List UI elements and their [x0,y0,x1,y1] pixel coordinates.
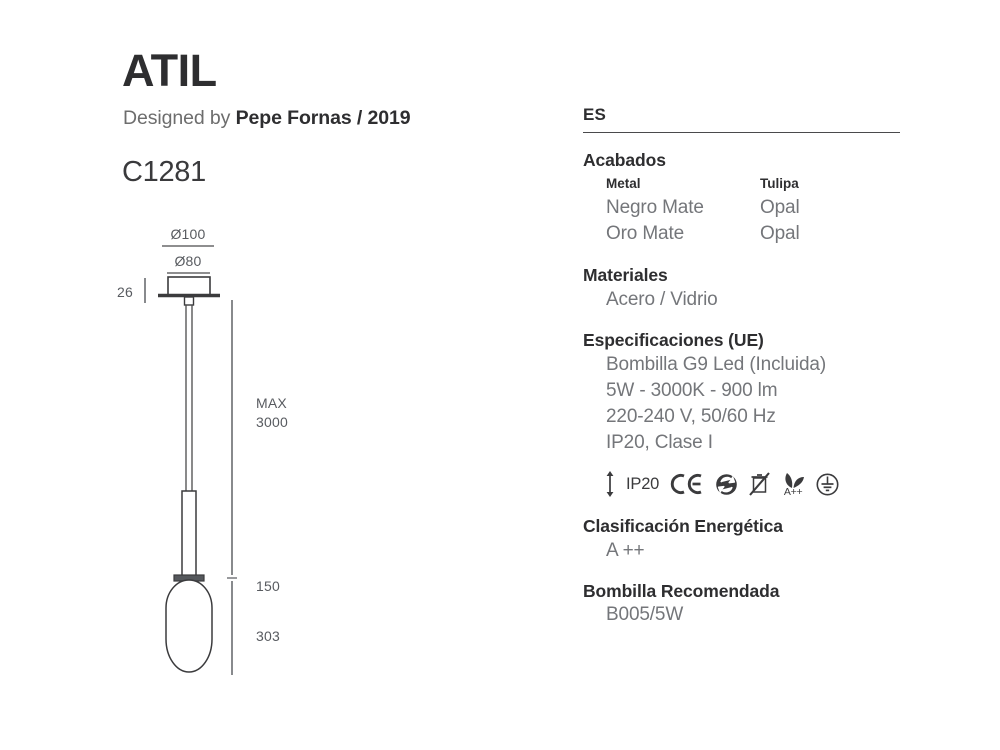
energy-badge-label: A++ [784,487,803,498]
materials-section: Materiales Acero / Vidrio [583,265,913,313]
specification-sheet: ES Acabados Metal Tulipa Negro Mate Opal… [583,105,913,629]
energy-leaf-icon: A++ [781,472,805,498]
finishes-col-tulipa-header: Tulipa [760,174,900,195]
materials-heading: Materiales [583,265,913,287]
glass-shade [166,580,212,672]
energy-class-value: A ++ [583,538,913,564]
finishes-header-row: Metal Tulipa [606,174,913,195]
finishes-table: Metal Tulipa Negro Mate Opal Oro Mate Op… [583,174,913,247]
stem-tube [182,491,196,577]
class-i-earth-icon [816,473,839,496]
specification-line: 5W - 3000K - 900 lm [583,378,913,404]
dimension-diameter-inner: Ø80 [174,253,201,269]
finishes-col-metal-header: Metal [606,174,760,195]
designer-credit: Designed by Pepe Fornas / 2019 [123,107,411,130]
specifications-section: Especificaciones (UE) Bombilla G9 Led (I… [583,330,913,501]
header-divider [583,132,900,133]
recommended-bulb-heading: Bombilla Recomendada [583,581,913,603]
energy-class-section: Clasificación Energética A ++ [583,516,913,564]
certification-icon-strip: IP20 [583,468,913,500]
recycling-icon [715,473,738,496]
energy-class-heading: Clasificación Energética [583,516,913,538]
dimension-canopy-height: 26 [117,284,133,300]
finish-metal-value: Oro Mate [606,221,760,247]
ip-rating-icon: IP20 [626,475,659,494]
canopy-connector [185,297,194,305]
table-row: Oro Mate Opal [606,221,913,247]
dimension-max-value: 3000 [256,414,288,430]
language-header: ES [583,105,913,125]
finish-tulipa-value: Opal [760,221,900,247]
recommended-bulb-value: B005/5W [583,602,913,628]
title-and-drawing-column: ATIL Designed by Pepe Fornas / 2019 C128… [0,0,560,750]
finish-tulipa-value: Opal [760,195,900,221]
designer-prefix: Designed by [123,107,236,129]
model-code: C1281 [122,156,206,189]
specification-line: Bombilla G9 Led (Incluida) [583,352,913,378]
canopy-body [168,277,210,295]
finishes-section: Acabados Metal Tulipa Negro Mate Opal Or… [583,150,913,247]
weee-crossed-bin-icon [749,472,770,497]
specification-line: 220-240 V, 50/60 Hz [583,404,913,430]
designer-name: Pepe Fornas / 2019 [236,107,411,129]
specification-line: IP20, Clase I [583,430,913,456]
table-row: Negro Mate Opal [606,195,913,221]
ce-mark-icon [670,472,704,496]
technical-drawing: Ø100 Ø80 26 [100,215,380,695]
specifications-heading: Especificaciones (UE) [583,330,913,352]
finishes-heading: Acabados [583,150,913,172]
dimension-shade-height: 150 [256,578,280,594]
recommended-bulb-section: Bombilla Recomendada B005/5W [583,581,913,629]
dimension-diameter-outer: Ø100 [170,226,205,242]
page-title: ATIL [122,48,217,93]
materials-value: Acero / Vidrio [583,287,913,313]
dimension-max-label: MAX [256,395,287,411]
dimension-total-height: 303 [256,628,280,644]
height-adjustable-icon [605,471,615,497]
finish-metal-value: Negro Mate [606,195,760,221]
